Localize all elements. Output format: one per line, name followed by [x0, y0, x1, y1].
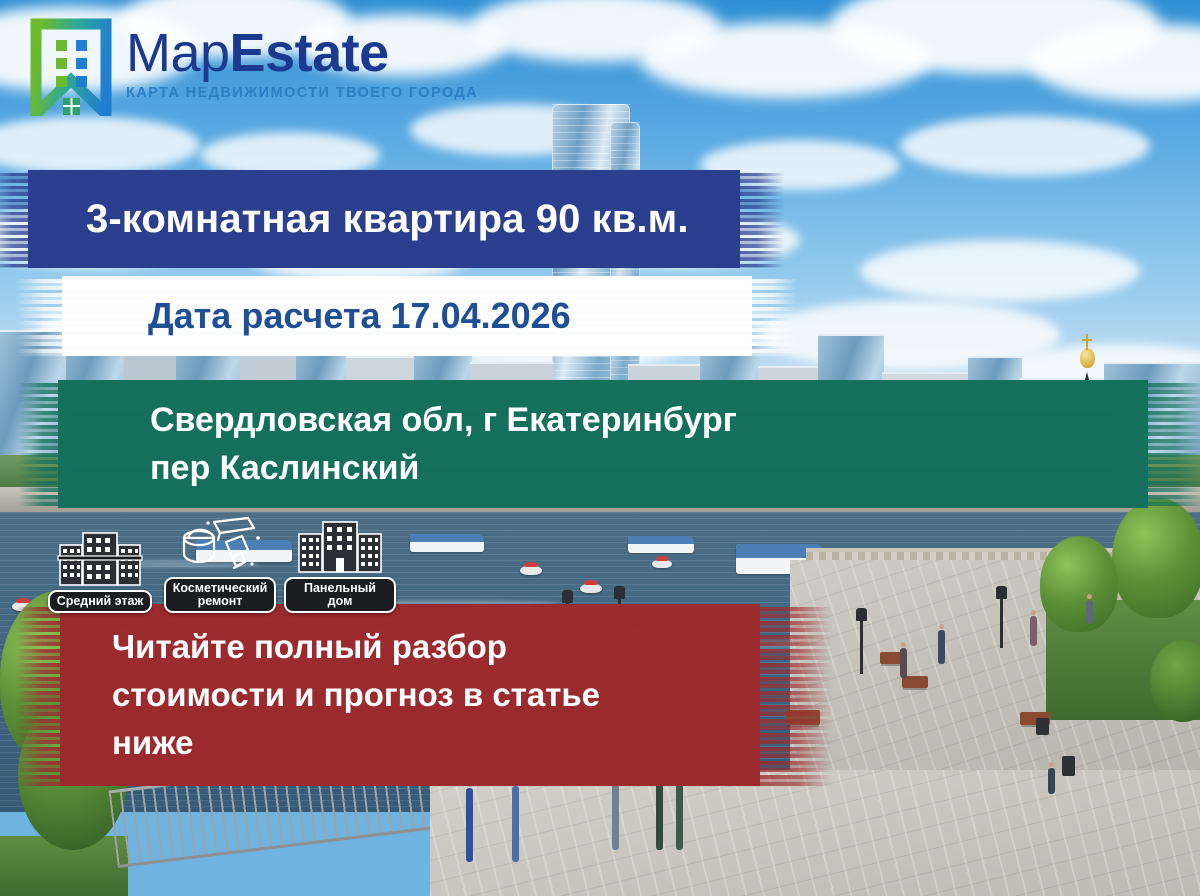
- brand-logo[interactable]: MapEstate КАРТА НЕДВИЖИМОСТИ ТВОЕГО ГОРО…: [30, 18, 478, 116]
- brand-text: MapEstate КАРТА НЕДВИЖИМОСТИ ТВОЕГО ГОРО…: [126, 18, 478, 101]
- feature-badge-label: Косметический ремонт: [164, 577, 277, 613]
- brand-tagline: КАРТА НЕДВИЖИМОСТИ ТВОЕГО ГОРОДА: [126, 85, 478, 101]
- brand-name-part1: Map: [126, 23, 230, 83]
- mid-floor-building-icon: [56, 529, 144, 587]
- cta-banner: Читайте полный разбор стоимости и прогно…: [60, 604, 760, 786]
- brand-name-part2: Estate: [230, 23, 389, 83]
- address-line-1: Свердловская обл, г Екатеринбург: [150, 396, 1148, 444]
- pedal-boat: [652, 560, 672, 568]
- poster-canvas: MapEstate КАРТА НЕДВИЖИМОСТИ ТВОЕГО ГОРО…: [0, 0, 1200, 896]
- pedal-boat: [580, 584, 602, 593]
- feature-badge-renovation[interactable]: Косметический ремонт: [164, 516, 276, 613]
- brand-name: MapEstate: [126, 28, 478, 80]
- cta-line-3: ниже: [112, 719, 760, 767]
- bookmark-building-icon: [30, 18, 112, 116]
- feature-badge-mid-floor[interactable]: Средний этаж: [44, 529, 156, 613]
- headline-text: 3-комнатная квартира 90 кв.м.: [28, 197, 740, 242]
- cta-text: Читайте полный разбор стоимости и прогно…: [60, 623, 760, 767]
- feature-badge-label: Средний этаж: [48, 590, 153, 613]
- feature-badge-list: Средний этаж: [44, 516, 396, 613]
- main-walkway: [430, 770, 1200, 896]
- address-banner: Свердловская обл, г Екатеринбург пер Кас…: [58, 380, 1148, 508]
- feature-badge-label: Панельный дом: [284, 577, 396, 613]
- trash-bin: [1062, 756, 1075, 776]
- park-bench: [902, 676, 928, 688]
- river-boat: [410, 534, 484, 552]
- cta-line-2: стоимости и прогноз в статье: [112, 671, 760, 719]
- cta-line-1: Читайте полный разбор: [112, 623, 760, 671]
- headline-banner: 3-комнатная квартира 90 кв.м.: [28, 170, 740, 268]
- calc-date-banner: Дата расчета 17.04.2026: [62, 276, 752, 356]
- church-dome: [1080, 348, 1095, 368]
- church-cross: [1086, 334, 1088, 350]
- address-line-2: пер Каслинский: [150, 444, 1148, 492]
- pedal-boat: [520, 566, 542, 575]
- river-boat: [628, 536, 694, 553]
- feature-badge-panel-house[interactable]: Панельный дом: [284, 516, 396, 613]
- address-text: Свердловская обл, г Екатеринбург пер Кас…: [58, 396, 1148, 493]
- paint-bucket-brush-icon: [174, 516, 266, 574]
- trash-bin: [1036, 718, 1049, 735]
- panel-house-icon: [295, 516, 385, 574]
- calc-date-text: Дата расчета 17.04.2026: [62, 295, 752, 337]
